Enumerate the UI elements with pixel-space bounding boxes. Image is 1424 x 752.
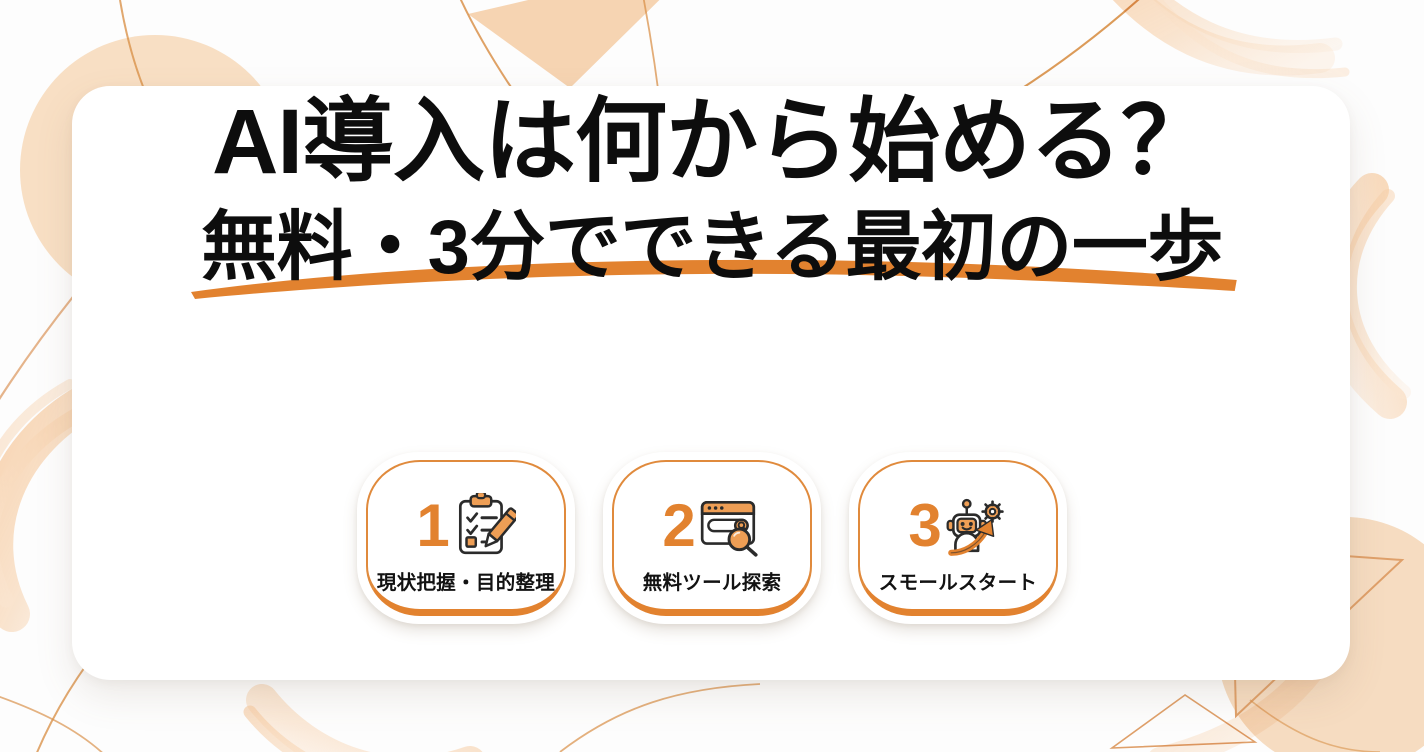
decor-brush-top-right — [1085, 0, 1345, 74]
headline-block: AI導入は何から始める？ 無料・3分でできる最初の一歩 — [0, 96, 1424, 288]
step-number: 3 — [908, 496, 939, 556]
step-number: 2 — [662, 496, 693, 556]
step-number: 1 — [416, 496, 447, 556]
step-body: 3 — [908, 488, 1007, 564]
steps-row: 1 — [0, 452, 1424, 624]
decor-line-bottom-left — [0, 690, 110, 752]
step-body: 2 — [662, 488, 761, 564]
headline-secondary-wrapper: 無料・3分でできる最初の一歩 — [201, 208, 1223, 288]
slide-canvas: AI導入は何から始める？ 無料・3分でできる最初の一歩 1 — [0, 0, 1424, 752]
step-badge-1[interactable]: 1 — [357, 452, 575, 624]
decor-triangle-top — [468, 0, 700, 88]
step-label: 無料ツール探索 — [643, 566, 782, 595]
decor-brush-bottom-left — [250, 700, 474, 752]
browser-search-icon — [696, 493, 762, 559]
step-body: 1 — [416, 488, 515, 564]
decor-line-bottom-center — [560, 684, 760, 752]
decor-line-bottom-right — [1250, 700, 1380, 752]
headline-secondary: 無料・3分でできる最初の一歩 — [201, 208, 1223, 288]
decor-triangle-outline-bottom-center — [1112, 695, 1255, 748]
step-label: スモールスタート — [879, 566, 1037, 595]
robot-gear-arrow-icon — [942, 493, 1008, 559]
headline-primary: AI導入は何から始める？ — [0, 96, 1424, 190]
step-badge-2[interactable]: 2 — [603, 452, 821, 624]
clipboard-pencil-icon — [450, 493, 516, 559]
step-label: 現状把握・目的整理 — [377, 566, 555, 595]
step-badge-3[interactable]: 3 — [849, 452, 1067, 624]
